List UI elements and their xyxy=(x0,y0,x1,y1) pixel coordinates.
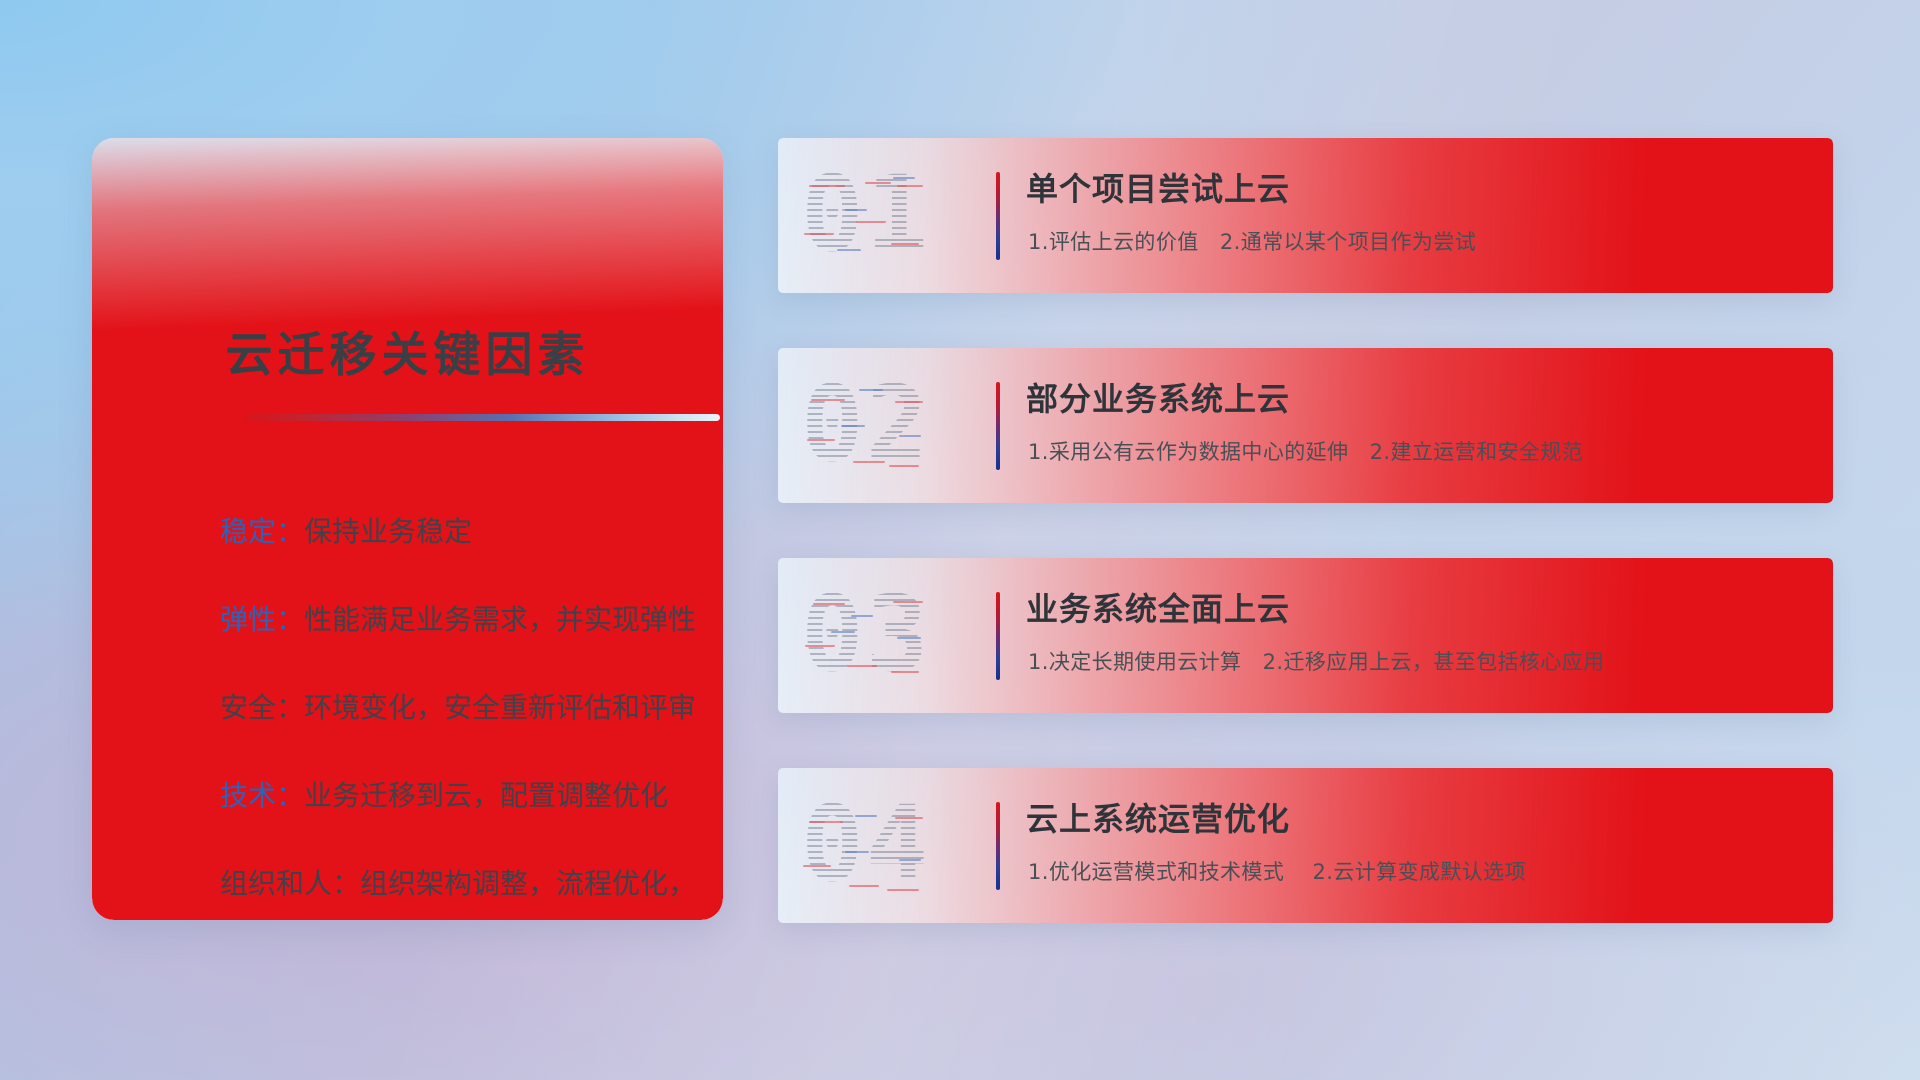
list-item-value: 性能满足业务需求，并实现弹性 xyxy=(304,603,696,636)
stage-cards: 01 单个项目尝试上云 1.评估上云的价值 2.通常以某个项目作为尝试 02 xyxy=(778,138,1833,978)
key-factors-list: 稳定：保持业务稳定 弹性：性能满足业务需求，并实现弹性 安全：环境变化，安全重新… xyxy=(220,518,683,920)
card-title: 业务系统全面上云 xyxy=(1026,584,1290,630)
list-item-value: 组织架构调整，流程优化， xyxy=(360,867,696,900)
card-title: 云上系统运营优化 xyxy=(1026,794,1290,840)
stage-card[interactable]: 02 部分业务系统上云 1.采用公有云作为数据中心的延伸 2.建立运营和安全规范 xyxy=(778,348,1833,503)
list-item-value: 业务迁移到云，配置调整优化 xyxy=(304,779,668,812)
card-accent-bar xyxy=(996,802,1000,890)
list-item: 安全：环境变化，安全重新评估和评审 xyxy=(220,694,683,722)
card-subtitle: 1.决定长期使用云计算 2.迁移应用上云，甚至包括核心应用 xyxy=(1028,646,1605,676)
card-subtitle: 1.优化运营模式和技术模式 2.云计算变成默认选项 xyxy=(1028,856,1526,886)
card-accent-bar xyxy=(996,172,1000,260)
list-item: 稳定：保持业务稳定 xyxy=(220,518,683,546)
card-subtitle: 1.评估上云的价值 2.通常以某个项目作为尝试 xyxy=(1028,226,1476,256)
stage-card[interactable]: 03 业务系统全面上云 1.决定长期使用云计算 2.迁移应用上云，甚至包括核心应… xyxy=(778,558,1833,713)
card-title: 部分业务系统上云 xyxy=(1026,374,1290,420)
card-accent-bar xyxy=(996,592,1000,680)
stage-number: 02 xyxy=(801,365,961,485)
stage-number: 03 xyxy=(801,575,961,695)
title-underline xyxy=(244,414,720,421)
stage-number: 01 xyxy=(801,155,961,275)
list-item: 技术：业务迁移到云，配置调整优化 xyxy=(220,782,683,810)
page-title: 云迁移关键因素 xyxy=(92,316,723,385)
card-title: 单个项目尝试上云 xyxy=(1026,164,1290,210)
stage-number: 04 xyxy=(801,785,961,905)
stage-card[interactable]: 01 单个项目尝试上云 1.评估上云的价值 2.通常以某个项目作为尝试 xyxy=(778,138,1833,293)
card-accent-bar xyxy=(996,382,1000,470)
list-item-key: 组织和人： xyxy=(220,867,360,900)
list-item: 弹性：性能满足业务需求，并实现弹性 xyxy=(220,606,683,634)
stage-card[interactable]: 04 云上系统运营优化 1.优化运营模式和技术模式 2.云计算变成默认选项 xyxy=(778,768,1833,923)
card-subtitle: 1.采用公有云作为数据中心的延伸 2.建立运营和安全规范 xyxy=(1028,436,1583,466)
list-item-key: 安全： xyxy=(220,691,304,724)
list-item: 组织和人：组织架构调整，流程优化， xyxy=(220,870,683,898)
list-item-key: 技术： xyxy=(220,779,304,812)
list-item-key: 弹性： xyxy=(220,603,304,636)
key-factors-panel: 云迁移关键因素 稳定：保持业务稳定 弹性：性能满足业务需求，并实现弹性 安全：环… xyxy=(92,138,723,920)
list-item-value: 环境变化，安全重新评估和评审 xyxy=(304,691,696,724)
list-item-key: 稳定： xyxy=(220,515,304,548)
list-item-value: 保持业务稳定 xyxy=(304,515,472,548)
